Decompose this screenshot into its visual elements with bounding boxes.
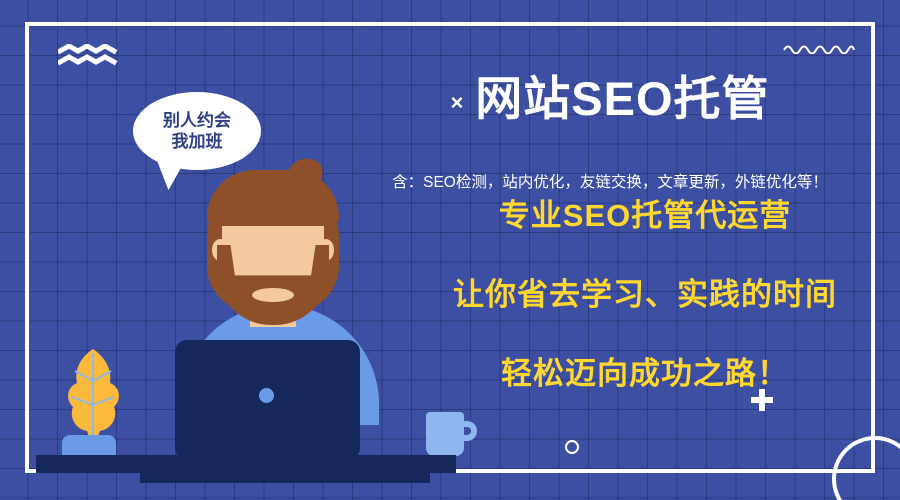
small-circle-outline-icon bbox=[565, 440, 579, 454]
coffee-mug-icon bbox=[426, 412, 464, 456]
slogan-list: 专业SEO托管代运营 让你省去学习、实践的时间 轻松迈向成功之路！ bbox=[410, 190, 880, 393]
speech-bubble-line-1: 别人约会 bbox=[163, 110, 231, 131]
slogan-line-1: 专业SEO托管代运营 bbox=[410, 190, 880, 235]
close-x-icon: × bbox=[450, 92, 463, 114]
seo-hosting-banner: × 网站SEO托管 含：SEO检测，站内优化，友链交换，文章更新，外链优化等！ … bbox=[0, 0, 900, 500]
speech-bubble-line-2: 我加班 bbox=[172, 131, 223, 152]
desk-surface bbox=[36, 455, 456, 473]
double-wave-icon bbox=[58, 44, 118, 68]
laptop-logo-dot bbox=[259, 388, 274, 403]
person-mouth bbox=[252, 288, 294, 302]
headline-row: × 网站SEO托管 bbox=[330, 42, 890, 157]
subtitle-text: 含：SEO检测，站内优化，友链交换，文章更新，外链优化等！ bbox=[330, 170, 890, 192]
headline-block: × 网站SEO托管 含：SEO检测，站内优化，友链交换，文章更新，外链优化等！ bbox=[330, 42, 890, 192]
potted-plant-icon bbox=[60, 347, 126, 442]
slogan-line-2: 让你省去学习、实践的时间 bbox=[410, 269, 880, 314]
speech-bubble: 别人约会 我加班 bbox=[133, 92, 261, 170]
page-title: 网站SEO托管 bbox=[475, 73, 769, 125]
slogan-line-3: 轻松迈向成功之路！ bbox=[410, 348, 880, 393]
